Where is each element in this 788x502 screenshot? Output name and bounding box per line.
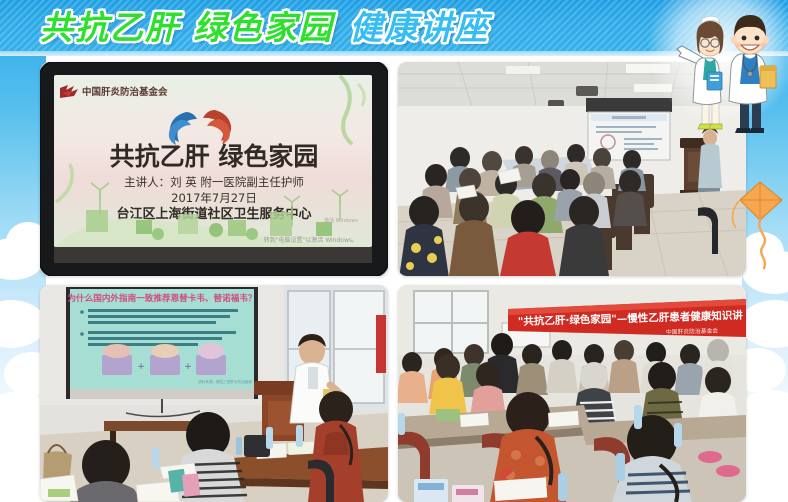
svg-text:资料来源：慢性乙型肝炎防治指南: 资料来源：慢性乙型肝炎防治指南 xyxy=(198,379,252,384)
photo-speaker-with-projection: 为什么国内外指南一致推荐恩替卡韦、替诺福韦？ xyxy=(40,285,388,502)
svg-text:+: + xyxy=(184,362,192,372)
female-nurse-cartoon xyxy=(677,16,723,129)
health-lecture-poster: 共抗乙肝 绿色家园健康讲座 xyxy=(0,0,788,502)
projection-slide-title: 为什么国内外指南一致推荐恩替卡韦、替诺福韦？ xyxy=(67,292,256,304)
photo-presentation-title-slide: 中国肝炎防治基金会 共抗乙肝 绿色家园 主讲人：刘 英 附一医院副主任护师 20… xyxy=(40,62,388,276)
photo-grid: 中国肝炎防治基金会 共抗乙肝 绿色家园 主讲人：刘 英 附一医院副主任护师 20… xyxy=(40,62,752,502)
foundation-logo-text: 中国肝炎防治基金会 xyxy=(82,86,168,98)
svg-text:激活 Windows: 激活 Windows xyxy=(324,217,358,224)
photo-classroom-audience-banner: "共抗乙肝·绿色家园"—慢性乙肝患者健康知识讲 中国肝炎防治基金会 xyxy=(398,285,746,502)
slide-watermark: 转到"电脑设置"以激活 Windows。 xyxy=(264,236,358,244)
slide-main-title: 共抗乙肝 绿色家园 xyxy=(110,142,319,171)
male-doctor-cartoon xyxy=(729,15,776,133)
poster-title-part1: 共抗乙肝 绿色家园 xyxy=(40,8,334,47)
poster-title: 共抗乙肝 绿色家园健康讲座 xyxy=(40,5,490,51)
poster-title-part2: 健康讲座 xyxy=(350,8,490,47)
mascot-group xyxy=(674,0,786,145)
kite-icon xyxy=(730,176,784,271)
slide-date-line: 2017年7月27日 xyxy=(171,191,257,205)
svg-text:+: + xyxy=(137,362,145,372)
slide-speaker-line: 主讲人：刘 英 附一医院副主任护师 xyxy=(124,175,304,189)
